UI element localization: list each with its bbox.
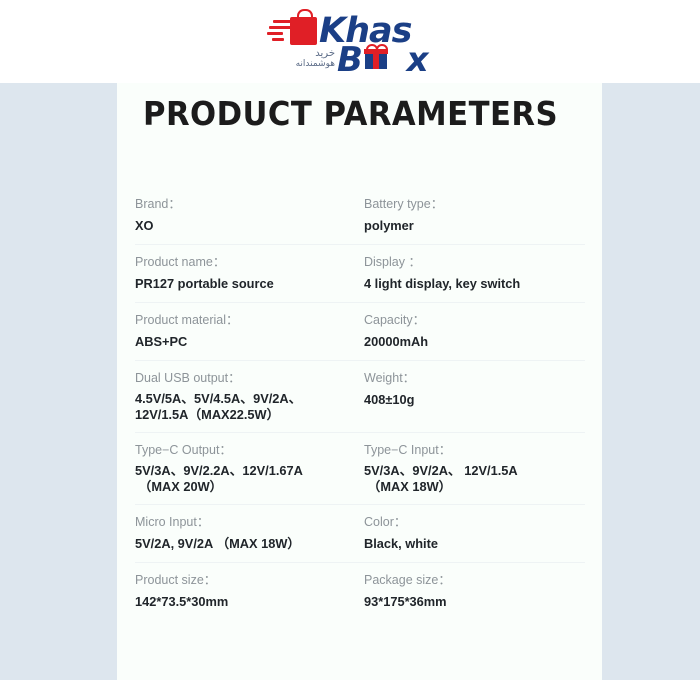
spec-label: Capacity： xyxy=(364,309,581,331)
table-row: Micro Input： 5V/2A, 9V/2A （MAX 18W） Colo… xyxy=(135,505,585,563)
spec-value: polymer xyxy=(364,215,581,235)
spec-label: Weight： xyxy=(364,367,581,389)
spec-label: Color： xyxy=(364,511,581,533)
table-row: Product size： 142*73.5*30mm Package size… xyxy=(135,563,585,620)
spec-table: Brand： XO Battery type： polymer Product … xyxy=(135,187,585,620)
spec-value: 20000mAh xyxy=(364,331,581,351)
spec-value: XO xyxy=(135,215,356,235)
spec-label: Battery type： xyxy=(364,193,581,215)
spec-value: PR127 portable source xyxy=(135,273,356,293)
table-row: Type−C Output： 5V/3A、9V/2.2A、12V/1.67A （… xyxy=(135,433,585,505)
spec-value: 4.5V/5A、5V/4.5A、9V/2A、 12V/1.5A（MAX22.5W… xyxy=(135,389,356,423)
right-side-panel xyxy=(602,83,700,680)
spec-value: 5V/3A、9V/2.2A、12V/1.67A （MAX 20W） xyxy=(135,461,356,495)
logo-tagline: خرید هوشمندانه xyxy=(273,48,335,70)
spec-cell-right: Display ： 4 light display, key switch xyxy=(360,251,585,293)
spec-cell-right: Weight： 408±10g xyxy=(360,367,585,423)
spec-value: 408±10g xyxy=(364,389,581,409)
spec-cell-right: Battery type： polymer xyxy=(360,193,585,235)
spec-value: Black, white xyxy=(364,533,581,553)
content-card: PRODUCT PARAMETERS Brand： XO Battery typ… xyxy=(117,83,602,680)
spec-value: 5V/3A、9V/2A、 12V/1.5A （MAX 18W） xyxy=(364,461,581,495)
product-parameters-page: Khas خرید هوشمندانه Boox PRODUCT PARAMET… xyxy=(0,0,700,700)
spec-cell-right: Color： Black, white xyxy=(360,511,585,553)
spec-label: Display ： xyxy=(364,251,581,273)
spec-label: Product size： xyxy=(135,569,356,591)
spec-cell-right: Type−C Input： 5V/3A、9V/2A、 12V/1.5A （MAX… xyxy=(360,439,585,495)
spec-cell-left: Product name： PR127 portable source xyxy=(135,251,360,293)
table-row: Product material： ABS+PC Capacity： 20000… xyxy=(135,303,585,361)
spec-value: 5V/2A, 9V/2A （MAX 18W） xyxy=(135,533,356,553)
spec-label: Product name： xyxy=(135,251,356,273)
spec-cell-right: Package size： 93*175*36mm xyxy=(360,569,585,611)
spec-value: 142*73.5*30mm xyxy=(135,591,356,611)
logo-tagline-line1: خرید xyxy=(273,48,335,59)
site-header: Khas خرید هوشمندانه Boox xyxy=(0,0,700,83)
spec-cell-left: Product size： 142*73.5*30mm xyxy=(135,569,360,611)
table-row: Product name： PR127 portable source Disp… xyxy=(135,245,585,303)
khasbox-logo[interactable]: Khas خرید هوشمندانه Boox xyxy=(267,14,433,76)
logo-tagline-line2: هوشمندانه xyxy=(273,59,335,70)
spec-value: 93*175*36mm xyxy=(364,591,581,611)
spec-label: Type−C Input： xyxy=(364,439,581,461)
spec-cell-left: Type−C Output： 5V/3A、9V/2.2A、12V/1.67A （… xyxy=(135,439,360,495)
gift-box-icon xyxy=(365,46,387,69)
spec-value: ABS+PC xyxy=(135,331,356,351)
spec-label: Micro Input： xyxy=(135,511,356,533)
spec-cell-left: Dual USB output： 4.5V/5A、5V/4.5A、9V/2A、 … xyxy=(135,367,360,423)
shopping-bag-icon xyxy=(290,17,317,45)
page-title: PRODUCT PARAMETERS xyxy=(143,89,558,139)
spec-label: Package size： xyxy=(364,569,581,591)
spec-cell-left: Micro Input： 5V/2A, 9V/2A （MAX 18W） xyxy=(135,511,360,553)
left-side-panel xyxy=(0,83,117,680)
spec-label: Brand： xyxy=(135,193,356,215)
logo-word-box-b: B xyxy=(337,40,362,80)
spec-cell-left: Product material： ABS+PC xyxy=(135,309,360,351)
spec-cell-right: Capacity： 20000mAh xyxy=(360,309,585,351)
spec-value: 4 light display, key switch xyxy=(364,273,581,293)
spec-cell-left: Brand： XO xyxy=(135,193,360,235)
table-row: Brand： XO Battery type： polymer xyxy=(135,187,585,245)
table-row: Dual USB output： 4.5V/5A、5V/4.5A、9V/2A、 … xyxy=(135,361,585,433)
spec-label: Type−C Output： xyxy=(135,439,356,461)
spec-label: Dual USB output： xyxy=(135,367,356,389)
logo-word-box-x: x xyxy=(407,40,428,80)
spec-label: Product material： xyxy=(135,309,356,331)
